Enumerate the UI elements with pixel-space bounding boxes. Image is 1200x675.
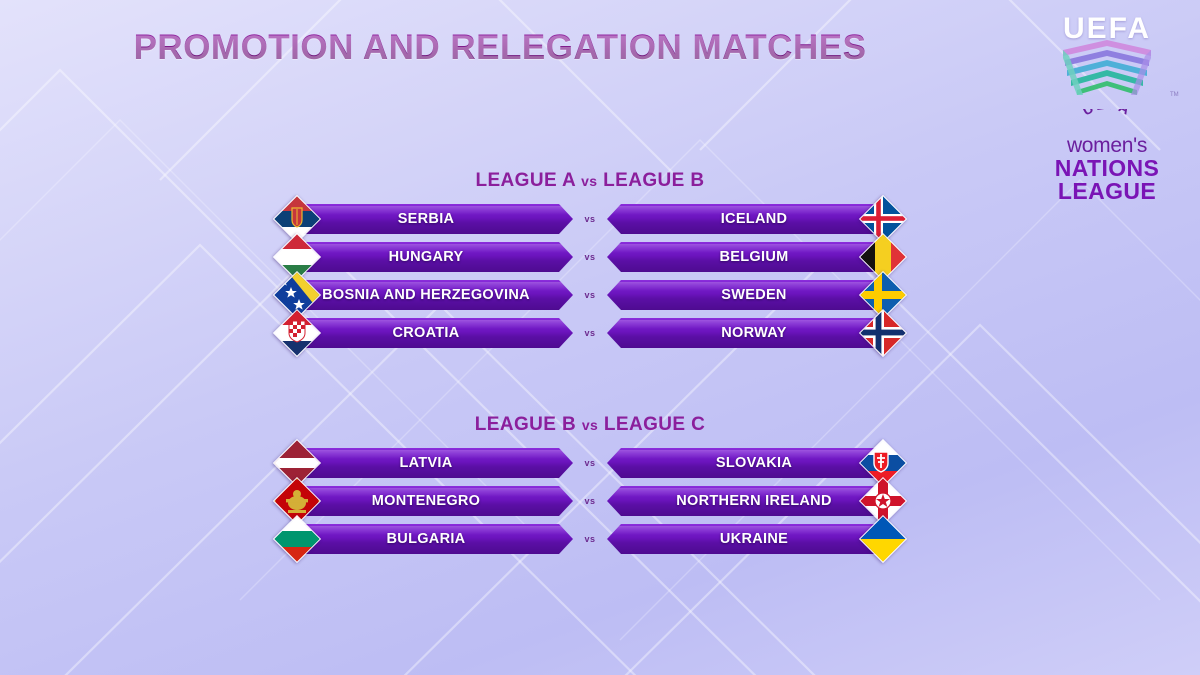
vs-separator: vs <box>573 524 607 554</box>
away-team-name: BELGIUM <box>702 249 789 265</box>
match-row[interactable]: LATVIA vs SLOVAKIA <box>297 448 883 478</box>
section-heading: LEAGUE B vs LEAGUE C <box>0 414 1180 436</box>
vs-separator: vs <box>573 280 607 310</box>
flag-bulgaria <box>273 515 321 563</box>
vs-separator: vs <box>573 318 607 348</box>
section-league-a-vs-league-b: LEAGUE A vs LEAGUE B SERBIA vs ICELAND <box>0 170 1180 348</box>
promotion-relegation-graphic: PROMOTION AND RELEGATION MATCHES UEFA TM <box>0 0 1200 675</box>
page-title: PROMOTION AND RELEGATION MATCHES <box>0 28 1000 68</box>
home-team[interactable]: CROATIA <box>297 318 573 348</box>
home-team[interactable]: HUNGARY <box>297 242 573 272</box>
match-list: SERBIA vs ICELAND HUNGARY vs <box>0 204 1180 348</box>
away-team[interactable]: ICELAND <box>607 204 883 234</box>
home-team-name: BOSNIA AND HERZEGOVINA <box>322 287 548 303</box>
away-team[interactable]: SLOVAKIA <box>607 448 883 478</box>
away-team-name: ICELAND <box>703 211 788 227</box>
svg-text:TM: TM <box>1170 92 1179 98</box>
uefa-emblem-icon: TM <box>1032 38 1182 105</box>
vs-separator: vs <box>573 242 607 272</box>
flag-norway <box>859 309 907 357</box>
section-heading-vs: vs <box>582 417 598 433</box>
match-row[interactable]: MONTENEGRO vs NORTHERN IRELAND <box>297 486 883 516</box>
away-team[interactable]: NORWAY <box>607 318 883 348</box>
vs-separator: vs <box>573 486 607 516</box>
section-heading-right: LEAGUE B <box>603 170 704 191</box>
home-team[interactable]: BOSNIA AND HERZEGOVINA <box>297 280 573 310</box>
home-team[interactable]: SERBIA <box>297 204 573 234</box>
section-heading: LEAGUE A vs LEAGUE B <box>0 170 1180 192</box>
home-team-name: SERBIA <box>398 211 473 227</box>
match-row[interactable]: BOSNIA AND HERZEGOVINA vs SWEDEN <box>297 280 883 310</box>
home-team-name: HUNGARY <box>389 249 482 265</box>
home-team-name: LATVIA <box>399 455 470 471</box>
match-list: LATVIA vs SLOVAKIA MONTENEGRO vs <box>0 448 1180 554</box>
vs-separator: vs <box>573 204 607 234</box>
wnl-arc-uefa: UEFA <box>1032 109 1182 135</box>
away-team-name: SWEDEN <box>703 287 786 303</box>
away-team[interactable]: SWEDEN <box>607 280 883 310</box>
away-team-name: NORWAY <box>703 325 786 341</box>
section-heading-right: LEAGUE C <box>604 414 705 435</box>
wnl-womens-text: women's <box>1032 135 1182 156</box>
away-team-name: UKRAINE <box>702 531 788 547</box>
svg-text:UEFA: UEFA <box>1080 109 1135 118</box>
section-league-b-vs-league-c: LEAGUE B vs LEAGUE C LATVIA vs SLOVAKIA <box>0 414 1180 554</box>
away-team-name: NORTHERN IRELAND <box>658 493 831 509</box>
home-team[interactable]: MONTENEGRO <box>297 486 573 516</box>
flag-croatia <box>273 309 321 357</box>
home-team[interactable]: BULGARIA <box>297 524 573 554</box>
home-team-name: MONTENEGRO <box>372 493 499 509</box>
match-row[interactable]: CROATIA vs NORWAY <box>297 318 883 348</box>
home-team-name: BULGARIA <box>387 531 484 547</box>
match-row[interactable]: HUNGARY vs BELGIUM <box>297 242 883 272</box>
match-row[interactable]: BULGARIA vs UKRAINE <box>297 524 883 554</box>
section-heading-vs: vs <box>581 173 597 189</box>
away-team[interactable]: UKRAINE <box>607 524 883 554</box>
away-team-name: SLOVAKIA <box>698 455 792 471</box>
home-team[interactable]: LATVIA <box>297 448 573 478</box>
vs-separator: vs <box>573 448 607 478</box>
flag-ukraine <box>859 515 907 563</box>
section-heading-left: LEAGUE B <box>475 414 576 435</box>
home-team-name: CROATIA <box>392 325 477 341</box>
match-row[interactable]: SERBIA vs ICELAND <box>297 204 883 234</box>
away-team[interactable]: NORTHERN IRELAND <box>607 486 883 516</box>
section-heading-left: LEAGUE A <box>475 170 575 191</box>
away-team[interactable]: BELGIUM <box>607 242 883 272</box>
